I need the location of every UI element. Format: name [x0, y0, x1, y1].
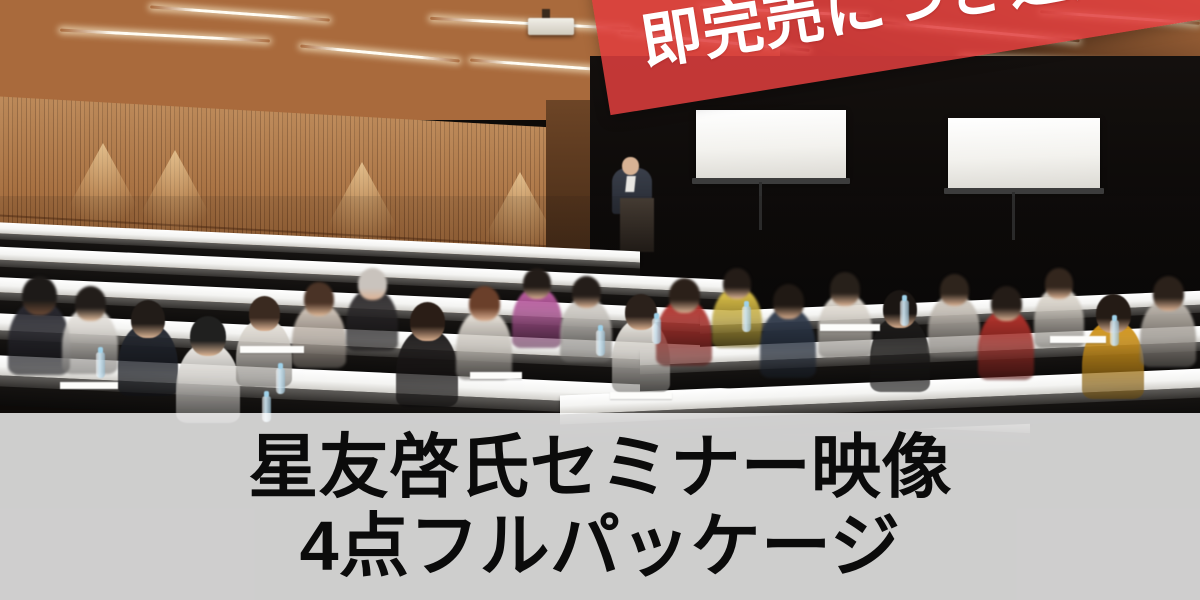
handout-paper-0 — [60, 382, 118, 389]
ceiling-projector-icon — [528, 18, 574, 35]
water-bottle-0 — [96, 352, 105, 378]
audience-head-12 — [669, 278, 700, 313]
presenter-head — [622, 157, 639, 175]
audience-head-14 — [773, 284, 804, 319]
handout-paper-4 — [1050, 336, 1106, 343]
audience-head-7 — [410, 302, 445, 341]
audience-head-21 — [1153, 276, 1184, 311]
water-bottle-6 — [1110, 320, 1119, 346]
water-bottle-2 — [596, 330, 605, 356]
projection-screen-0 — [696, 110, 846, 178]
handout-paper-1 — [240, 346, 304, 353]
audience-head-5 — [304, 282, 334, 316]
screen-bottom-bar — [692, 178, 850, 184]
audience-head-2 — [131, 300, 165, 338]
audience-head-17 — [940, 274, 969, 306]
audience-head-8 — [469, 286, 500, 321]
audience-head-0 — [22, 276, 57, 315]
promo-banner: 即完売につき追加！ 星友啓氏セミナー映像 4点フルパッケージ — [0, 0, 1200, 600]
audience-head-6 — [358, 268, 387, 300]
handout-paper-2 — [470, 372, 522, 379]
audience-head-10 — [572, 276, 601, 308]
audience-head-13 — [723, 268, 751, 299]
caption-line-2: 4点フルパッケージ — [300, 510, 901, 583]
caption-line-1: 星友啓氏セミナー映像 — [248, 431, 952, 504]
handout-paper-5 — [610, 392, 672, 399]
audience-head-4 — [249, 296, 280, 331]
audience-head-3 — [190, 316, 226, 356]
water-bottle-1 — [276, 368, 285, 394]
handout-paper-3 — [820, 324, 880, 331]
water-bottle-3 — [652, 318, 661, 344]
projection-screen-1 — [948, 118, 1100, 188]
title-caption-overlay: 星友啓氏セミナー映像 4点フルパッケージ — [0, 413, 1200, 600]
audience-head-18 — [991, 286, 1022, 321]
water-bottle-4 — [742, 306, 751, 332]
audience-head-9 — [523, 268, 551, 299]
presenter-shirt — [625, 176, 636, 192]
audience-head-1 — [75, 286, 106, 321]
water-bottle-5 — [900, 300, 909, 326]
screen-bottom-bar — [944, 188, 1104, 194]
audience-head-19 — [1045, 268, 1073, 299]
audience-head-15 — [830, 272, 860, 306]
